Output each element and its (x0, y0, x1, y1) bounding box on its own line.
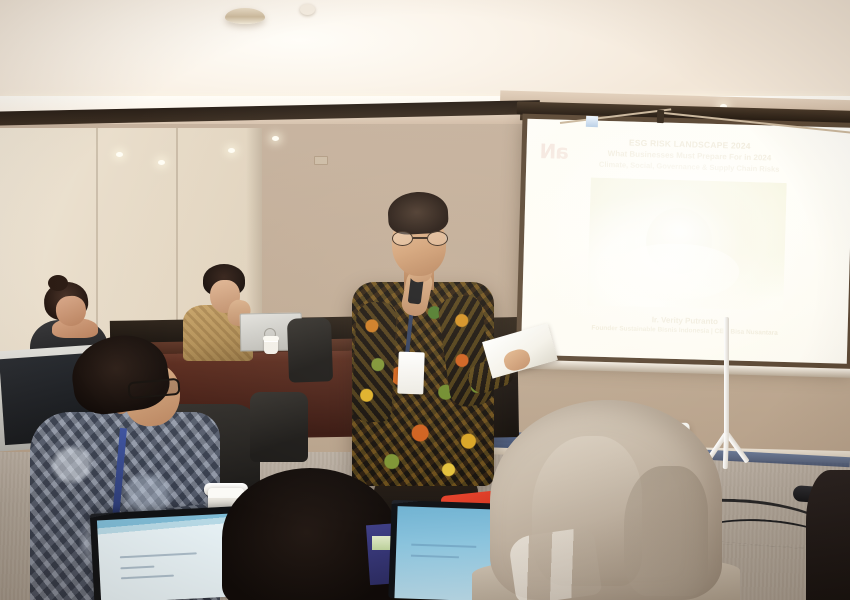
downlight-icon (272, 136, 279, 141)
glasses-lens-left (392, 231, 413, 246)
smoke-detector-icon (225, 8, 265, 24)
glasses-bridge (413, 237, 427, 239)
screen-frame: aN ESG RISK LANDSCAPE 2024 What Business… (516, 114, 850, 369)
speaker-left-arm (351, 301, 397, 423)
wall-plate (314, 156, 328, 165)
downlight-icon (116, 152, 123, 157)
right-edge-person (806, 470, 850, 600)
downlight-icon (228, 148, 235, 153)
hijab-fold (624, 466, 708, 596)
screen-surface: aN ESG RISK LANDSCAPE 2024 What Business… (521, 119, 850, 364)
paper-cup (264, 338, 278, 354)
screen-bracket (657, 110, 664, 123)
wall-mount-icon (586, 116, 598, 127)
hand-shape (619, 242, 741, 301)
office-chair (250, 392, 308, 462)
speaker-hair (387, 190, 449, 235)
document-line (411, 543, 476, 547)
document-line (411, 554, 459, 558)
office-chair (287, 317, 333, 382)
back-woman-hair-bun (48, 275, 68, 291)
sprinkler-icon (300, 4, 315, 15)
speaker-name-badge (397, 352, 424, 395)
document-line (120, 552, 197, 558)
downlight-icon (158, 160, 165, 165)
hijab-woman (472, 400, 740, 600)
document-line (121, 575, 174, 580)
laptop-screen-foreground-left (97, 514, 233, 600)
slide-photo-globe (587, 178, 786, 311)
presentation-slide: aN ESG RISK LANDSCAPE 2024 What Business… (521, 119, 850, 364)
speaker-eyeglasses (392, 231, 448, 246)
hijab-stripe-panel (508, 526, 603, 600)
slide-logo: aN (540, 139, 569, 164)
slide-title-block: ESG RISK LANDSCAPE 2024 What Businesses … (542, 135, 837, 175)
document-line (121, 566, 155, 570)
glasses-lens-right (427, 231, 448, 246)
photograph-scene: aN ESG RISK LANDSCAPE 2024 What Business… (0, 0, 850, 600)
